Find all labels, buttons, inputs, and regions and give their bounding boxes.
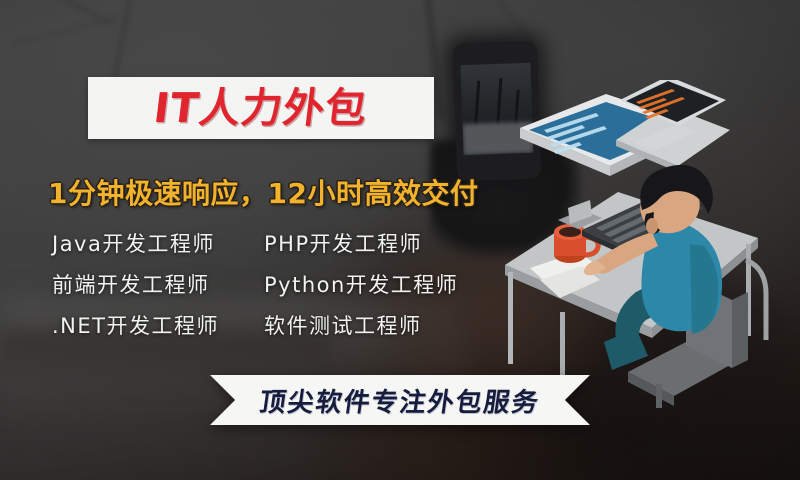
developer-at-desk-illustration xyxy=(500,80,800,410)
role-qa: 软件测试工程师 xyxy=(264,310,422,340)
role-python: Python开发工程师 xyxy=(264,269,458,299)
role-row: Java开发工程师 PHP开发工程师 xyxy=(52,222,472,263)
role-row: 前端开发工程师 Python开发工程师 xyxy=(52,263,472,304)
subtitle-slogan: 1分钟极速响应，12小时高效交付 xyxy=(48,172,478,212)
role-java: Java开发工程师 xyxy=(52,228,264,258)
page-title: IT人力外包 xyxy=(152,88,370,129)
role-php: PHP开发工程师 xyxy=(264,228,422,258)
role-frontend: 前端开发工程师 xyxy=(52,269,264,299)
role-row: .NET开发工程师 软件测试工程师 xyxy=(52,304,472,345)
promotional-banner: IT人力外包 1分钟极速响应，12小时高效交付 Java开发工程师 PHP开发工… xyxy=(0,0,800,480)
bottom-ribbon: 顶尖软件专注外包服务 xyxy=(210,375,590,425)
title-band: IT人力外包 xyxy=(88,77,434,139)
job-roles-list: Java开发工程师 PHP开发工程师 前端开发工程师 Python开发工程师 .… xyxy=(52,222,472,345)
ribbon-slogan: 顶尖软件专注外包服务 xyxy=(206,375,593,425)
role-dotnet: .NET开发工程师 xyxy=(52,310,264,340)
